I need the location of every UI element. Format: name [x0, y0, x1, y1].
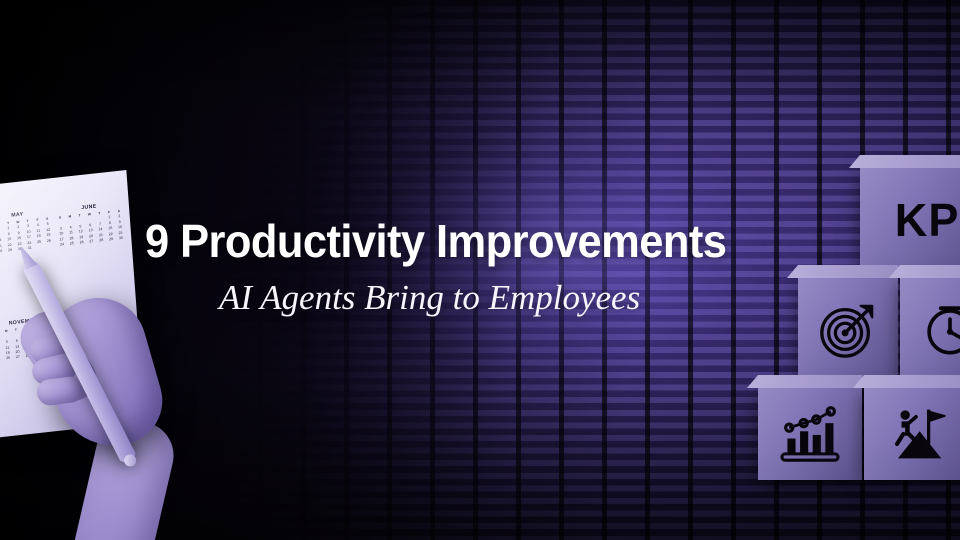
calendar-dow: T: [4, 221, 13, 226]
calendar-day: [66, 219, 75, 224]
calendar-day: 23: [15, 241, 24, 246]
calendar-day: 8: [4, 231, 13, 236]
calendar-day: 23: [116, 230, 125, 235]
calendar-day: 16: [116, 225, 125, 230]
calendar-day: 22: [106, 231, 115, 236]
kpi-block-stack: KPI: [750, 168, 960, 480]
calendar-day: 12: [76, 229, 85, 234]
calendar-day: 3: [24, 224, 33, 229]
calendar-day: 1: [4, 226, 13, 231]
calendar-dow: S: [114, 209, 123, 214]
calendar-day: 14: [0, 238, 4, 243]
calendar-day-grid: SMTWTFS123456789101112131415161718192021…: [0, 216, 54, 255]
kpi-label: KPI: [895, 197, 960, 243]
calendar-day: 15: [106, 226, 115, 231]
calendar-dow: W: [13, 220, 22, 225]
calendar-day: 29: [107, 237, 116, 242]
calendar-day: [0, 335, 1, 340]
block-clock: [900, 278, 960, 382]
calendar-day: 7: [0, 233, 4, 238]
calendar-day: 5: [2, 340, 11, 345]
calendar-day: 13: [86, 228, 95, 233]
calendar-day: 27: [13, 355, 22, 360]
calendar-day: 28: [0, 249, 5, 254]
block-kpi: KPI: [860, 168, 960, 272]
calendar-day: 20: [87, 233, 96, 238]
calendar-dow: T: [11, 328, 20, 333]
calendar-day: 19: [3, 350, 12, 355]
calendar-day: 6: [86, 223, 95, 228]
hero-banner: MAYSMTWTFS123456789101112131415161718192…: [0, 0, 960, 540]
calendar-day: [35, 244, 44, 249]
calendar-day: 7: [96, 222, 105, 227]
calendar-day: 17: [57, 237, 66, 242]
calendar-day: 15: [5, 237, 14, 242]
calendar-day: 9: [14, 230, 23, 235]
calendar-day: 19: [44, 233, 53, 238]
calendar-day: 11: [34, 228, 43, 233]
calendar-day: 26: [77, 240, 86, 245]
calendar-day: 18: [0, 351, 3, 356]
calendar-dow: T: [95, 211, 104, 216]
calendar-day: 21: [0, 243, 4, 248]
calendar-dow: F: [105, 210, 114, 215]
calendar-day: 29: [6, 248, 15, 253]
calendar-dow: M: [2, 329, 11, 334]
calendar-day: 24: [58, 242, 67, 247]
calendar-day: [76, 218, 85, 223]
calendar-day: 11: [0, 346, 2, 351]
calendar-day: 28: [97, 238, 106, 243]
calendar-day: 18: [34, 234, 43, 239]
calendar-day: 5: [76, 224, 85, 229]
calendar-day: 12: [3, 345, 12, 350]
calendar-month-name: JUNE: [55, 201, 123, 214]
clock-gauge-icon: [921, 301, 960, 359]
calendar-day: 30: [116, 236, 125, 241]
page-title: 9 Productivity Improvements: [145, 216, 807, 266]
calendar-day: 2: [14, 225, 23, 230]
calendar-day: [2, 334, 11, 339]
person-flag-summit-icon: [885, 406, 947, 462]
calendar-day: 4: [66, 225, 75, 230]
calendar-day: 21: [96, 232, 105, 237]
calendar-day: 26: [44, 238, 53, 243]
calendar-day: 17: [24, 235, 33, 240]
calendar-day: [45, 243, 54, 248]
calendar-day: 16: [15, 236, 24, 241]
calendar-day: 20: [13, 349, 22, 354]
calendar-day: 11: [67, 230, 76, 235]
calendar-day: 4: [33, 223, 42, 228]
calendar-day: 25: [0, 357, 3, 362]
calendar-dow: S: [56, 215, 65, 220]
calendar-dow: T: [75, 213, 84, 218]
calendar-dow: F: [33, 217, 42, 222]
page-subtitle: AI Agents Bring to Employees: [145, 277, 845, 319]
calendar-day-grid: SMTWTFS123456789101112131415161718192021…: [56, 209, 126, 248]
calendar-day: 8: [105, 220, 114, 225]
calendar-day: 2: [115, 214, 124, 219]
calendar-day: 31: [25, 246, 34, 251]
calendar-day: 25: [35, 239, 44, 244]
calendar-day: 1: [105, 215, 114, 220]
calendar-dow: W: [85, 212, 94, 217]
calendar-day: 18: [67, 236, 76, 241]
calendar-month-name: MAY: [0, 208, 51, 221]
calendar-dow: M: [65, 214, 74, 219]
calendar-day: [0, 227, 3, 232]
calendar-dow: S: [43, 216, 52, 221]
calendar-day: 10: [57, 231, 66, 236]
block-chart: [758, 388, 862, 480]
bar-chart-trend-icon: [780, 406, 840, 462]
headline-group: 9 Productivity Improvements AI Agents Br…: [145, 216, 845, 319]
calendar-day: 19: [77, 234, 86, 239]
calendar-day: 5: [43, 222, 52, 227]
calendar-day: 9: [115, 219, 124, 224]
calendar-dow: M: [0, 222, 3, 227]
calendar-day: [85, 217, 94, 222]
calendar-day: 24: [25, 240, 34, 245]
calendar-day: 12: [44, 227, 53, 232]
calendar-day: 3: [56, 226, 65, 231]
calendar-day: 4: [0, 341, 2, 346]
calendar-day: [95, 216, 104, 221]
calendar-day: [56, 220, 65, 225]
calendar-day: 14: [96, 227, 105, 232]
calendar-hand-illustration: MAYSMTWTFS123456789101112131415161718192…: [0, 150, 224, 540]
calendar-day: 10: [24, 229, 33, 234]
block-goal: [864, 388, 960, 480]
calendar-dow: T: [23, 219, 32, 224]
calendar-dow: S: [0, 330, 1, 335]
calendar-day: 22: [5, 242, 14, 247]
calendar-day: 27: [87, 239, 96, 244]
calendar-day: 26: [4, 356, 13, 361]
calendar-day: 25: [67, 241, 76, 246]
